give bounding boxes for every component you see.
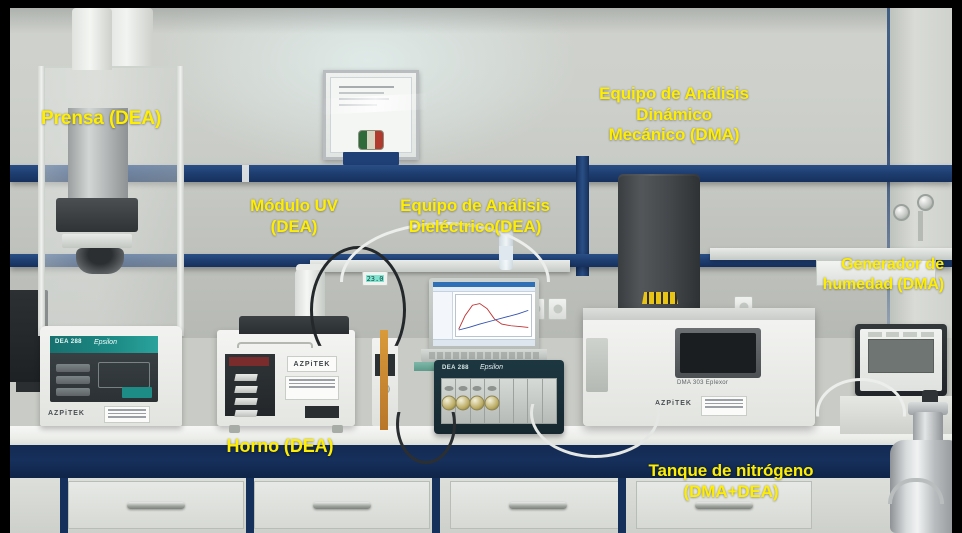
power-socket[interactable] (548, 298, 567, 320)
calibration-sticker (285, 376, 339, 400)
console-button[interactable] (56, 376, 90, 384)
humidity-display (868, 339, 934, 373)
oven-handle[interactable] (237, 342, 313, 348)
calibration-sticker (104, 406, 150, 423)
screenshot-root: DEA 288 Epsilon AZPiTEK (0, 0, 962, 533)
oven-key[interactable] (234, 398, 257, 405)
rack-blank-panel (514, 379, 527, 423)
certificate-banner (343, 152, 399, 165)
annotation-generador-humedad: Generador de humedad (DMA) (760, 255, 944, 294)
rack-blank-panel (500, 379, 513, 423)
laptop-screen (429, 278, 539, 350)
oven-control-panel[interactable] (225, 354, 275, 416)
plot-curve-icon (456, 295, 531, 336)
hot-surface-warning-icon (642, 292, 678, 304)
framed-certificate (323, 70, 419, 160)
annotation-equipo-dma: Equipo de Análisis Dinámico Mecánico (DM… (566, 84, 782, 146)
console-model-label: Epsilon (94, 339, 117, 346)
rack-module-card[interactable] (485, 379, 498, 423)
vendor-sticker-azpitek: AZPiTEK (287, 356, 337, 372)
console-diagram-icon (98, 362, 150, 388)
oven-brand-strip (229, 357, 269, 366)
cabinet-drawer[interactable] (254, 481, 430, 529)
rail-clip (242, 165, 249, 182)
netzsch-logo-badge (122, 387, 152, 398)
drawer-handle[interactable] (127, 502, 185, 509)
humidity-soft-keys[interactable] (868, 332, 934, 337)
console-brand-label: DEA 288 (55, 339, 82, 345)
laptop-application-window[interactable] (433, 282, 535, 346)
vendor-tag-azpitek: AZPiTEK (48, 410, 85, 417)
oven-vendor-label: AZPiTEK (294, 361, 331, 368)
annotation-horno: Horno (DEA) (192, 436, 368, 458)
rack-brand-label: DEA 288 (442, 365, 469, 371)
press-head (56, 198, 138, 232)
cabinet-divider (246, 478, 254, 533)
press-plate (62, 234, 132, 248)
dma-touchscreen[interactable] (680, 333, 756, 373)
press-column (72, 8, 112, 70)
ceiling-duct (105, 8, 153, 68)
dma-touchscreen-bezel[interactable] (675, 328, 761, 378)
dma-model-label: DMA 303 Eplexor (677, 380, 728, 386)
rack-model-label: Epsilon (480, 364, 503, 371)
annotation-prensa: Prensa (DEA) (41, 107, 221, 130)
regulator-stem (918, 211, 923, 241)
console-brand-strip: DEA 288 Epsilon (50, 336, 158, 353)
dma-top-surface (583, 308, 815, 320)
laboratory-photograph: DEA 288 Epsilon AZPiTEK (10, 8, 952, 533)
oven-key[interactable] (234, 386, 257, 393)
annotation-equipo-dielectrico: Equipo de Análisis Dieléctrico(DEA) (374, 196, 576, 237)
measurement-plot (455, 294, 532, 337)
oven-brand-badge (305, 406, 339, 418)
vendor-tag-azpitek: AZPiTEK (655, 400, 692, 407)
press-console-panel: DEA 288 Epsilon (50, 336, 158, 402)
certificate-crest-icon (358, 130, 384, 150)
press-control-console[interactable]: DEA 288 Epsilon AZPiTEK (40, 326, 182, 426)
dma-side-port (586, 338, 608, 392)
oven-key[interactable] (234, 374, 257, 381)
certificate-inner (330, 77, 412, 153)
calibration-sticker (701, 396, 747, 416)
laptop-keyboard[interactable] (429, 352, 539, 359)
pressure-gauge-icon (917, 194, 934, 211)
console-button[interactable] (56, 388, 90, 396)
cabinet-divider (60, 478, 68, 533)
drawer-handle[interactable] (313, 502, 371, 509)
window-statusbar (433, 339, 535, 346)
window-sidebar[interactable] (433, 292, 453, 339)
press-sample-bowl (76, 248, 124, 274)
cabinet-divider (432, 478, 440, 533)
oven-key[interactable] (234, 410, 257, 417)
annotation-modulo-uv: Módulo UV (DEA) (228, 196, 360, 237)
console-button[interactable] (56, 364, 90, 372)
rack-module-card[interactable] (471, 379, 484, 423)
rack-module-card[interactable] (456, 379, 469, 423)
cabinet-drawer[interactable] (450, 481, 626, 529)
drawer-handle[interactable] (509, 502, 567, 509)
monitor-stand (16, 382, 42, 392)
oven-foot (332, 425, 343, 433)
cabinet-drawer[interactable] (68, 481, 244, 529)
pressure-gauge-icon (893, 204, 910, 221)
annotation-tanque-nitrogeno: Tanque de nitrógeno (DMA+DEA) (606, 461, 856, 502)
oven-foot (229, 425, 240, 433)
dma-furnace-column (618, 176, 700, 312)
drawer-handle[interactable] (695, 502, 753, 509)
